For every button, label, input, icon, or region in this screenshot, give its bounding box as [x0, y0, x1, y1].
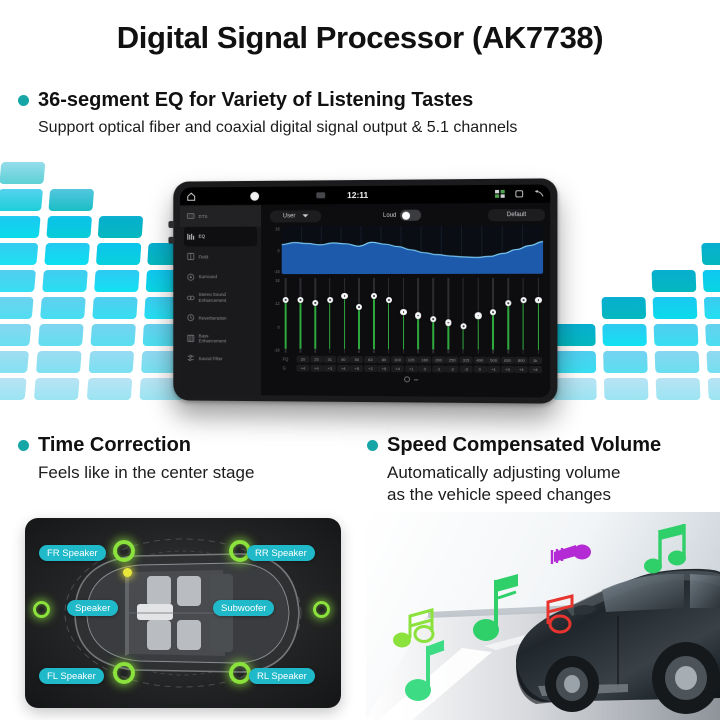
eq-slider[interactable]	[536, 278, 541, 354]
bg-eq-segment	[653, 297, 698, 319]
speed-volume-image-panel	[366, 512, 720, 720]
speaker-ring-rl	[229, 662, 251, 684]
slider-fill	[538, 298, 540, 350]
slider-thumb[interactable]	[445, 319, 451, 325]
sidebar-item-reverberation[interactable]: Reverberation	[180, 308, 261, 329]
bg-eq-segment	[701, 243, 720, 265]
chevron-down-icon	[302, 214, 308, 217]
effects-sidebar[interactable]: DTSEQFieldSurroundStereo Sound Enhanceme…	[180, 205, 261, 395]
eq-slider[interactable]	[298, 278, 302, 353]
frequency-cell[interactable]: 100	[391, 356, 404, 363]
gain-cell[interactable]: 0	[418, 365, 431, 372]
status-right-icons	[495, 190, 544, 198]
frequency-cell[interactable]: 200	[432, 356, 445, 363]
preset-select-label: User	[283, 213, 295, 219]
bg-eq-segment	[0, 162, 45, 184]
gain-cell[interactable]: +3	[501, 366, 514, 373]
sidebar-item-label: Field	[199, 254, 209, 259]
frequency-cell[interactable]: 80	[377, 356, 390, 363]
field-icon	[187, 253, 195, 261]
bg-eq-segment	[94, 270, 139, 292]
gain-cell[interactable]: +4	[297, 365, 310, 372]
bg-eq-segment	[48, 189, 94, 211]
eq-control-row: User Loud Default	[264, 207, 545, 224]
graph-y-axis: 180-18	[264, 226, 282, 274]
speaker-ring-right	[313, 601, 330, 618]
slider-fill	[300, 298, 302, 349]
axis-tick: -18	[274, 348, 280, 353]
slider-fill	[403, 310, 405, 349]
eq-icon	[187, 233, 195, 241]
frequency-cell[interactable]: 20	[297, 356, 310, 363]
gain-cell[interactable]: 0	[473, 366, 486, 373]
gain-cell[interactable]: -2	[446, 365, 459, 372]
feature-block-eq: 36-segment EQ for Variety of Listening T…	[18, 88, 517, 139]
back-arrow-icon[interactable]	[534, 190, 544, 198]
bg-eq-segment	[708, 378, 720, 400]
driver-position-marker	[123, 568, 132, 577]
eq-slider[interactable]	[491, 278, 496, 354]
graph-plot-area	[282, 225, 543, 274]
eq-slider[interactable]	[313, 278, 317, 353]
bg-eq-segment	[656, 378, 701, 400]
axis-tick: 12	[275, 301, 280, 306]
slider-fill	[314, 301, 316, 349]
slider-thumb[interactable]	[356, 304, 362, 310]
head-unit-screen: 12:11 DTSEQFieldSurroundStereo	[180, 184, 550, 397]
bg-eq-segment	[44, 243, 90, 265]
loudness-label: Loud	[383, 212, 396, 218]
speaker-ring-fr	[113, 540, 135, 562]
sidebar-item-eq[interactable]: EQ	[184, 226, 257, 247]
bg-eq-segment	[90, 324, 135, 346]
bg-eq-segment	[0, 216, 41, 238]
frequency-cell[interactable]: 63	[364, 356, 377, 363]
bg-eq-segment	[38, 324, 84, 346]
eq-slider[interactable]	[521, 278, 526, 354]
gain-cell[interactable]: +5	[377, 365, 390, 372]
slider-fill	[507, 301, 509, 349]
bg-eq-segment	[0, 189, 43, 211]
loudness-control[interactable]: Loud	[383, 210, 422, 221]
bg-eq-segment	[704, 297, 720, 319]
frequency-cell[interactable]: 500	[487, 357, 500, 364]
slider-thumb[interactable]	[371, 293, 377, 299]
gain-cell[interactable]: +1	[405, 365, 418, 372]
bg-eq-segment	[34, 378, 80, 400]
slider-fill	[418, 314, 420, 350]
slider-fill	[344, 294, 346, 349]
eq-value-table: FQ 2025314050638010012516020025031540050…	[282, 355, 543, 387]
speaker-ring-fl	[113, 662, 135, 684]
sidebar-item-label: Reverberation	[199, 315, 227, 320]
slider-thumb[interactable]	[283, 297, 289, 303]
frequency-cell[interactable]: 630	[501, 357, 514, 364]
bg-eq-column	[602, 297, 649, 400]
label-speaker: Speaker	[67, 600, 118, 616]
reverb-icon	[187, 314, 195, 322]
frequency-cell[interactable]: 400	[473, 357, 486, 364]
bg-eq-segment	[0, 378, 27, 400]
feature-subtext: Feels like in the center stage	[38, 462, 254, 484]
slider-thumb[interactable]	[490, 309, 496, 315]
slider-thumb[interactable]	[312, 300, 318, 306]
bg-eq-segment	[552, 351, 596, 373]
sidebar-item-sound-filter[interactable]: Sound Filter	[180, 348, 261, 369]
frequency-cell[interactable]: 25	[310, 356, 323, 363]
square-icon[interactable]	[514, 190, 524, 198]
bg-eq-segment	[96, 243, 141, 265]
slider-fill	[492, 310, 494, 349]
gain-cell[interactable]: +3	[323, 365, 336, 372]
eq-slider[interactable]	[506, 278, 511, 354]
frequency-row-label: FQ	[283, 357, 289, 362]
slider-thumb[interactable]	[430, 316, 436, 322]
slider-fill	[477, 314, 479, 350]
bg-eq-segment	[654, 324, 699, 346]
bg-eq-segment	[703, 270, 720, 292]
sidebar-item-field[interactable]: Field	[180, 247, 261, 268]
frequency-cell[interactable]: 315	[459, 356, 472, 363]
bg-eq-column	[87, 216, 143, 400]
sidebar-item-label: Sound Filter	[199, 356, 223, 361]
default-button[interactable]: Default	[488, 208, 545, 220]
bg-eq-segment	[0, 324, 31, 346]
slider-fill	[522, 298, 524, 350]
eq-slider[interactable]	[342, 278, 346, 353]
car-speaker-diagram-panel: FR Speaker RR Speaker Speaker Subwoofer …	[25, 518, 341, 708]
bg-eq-segment	[705, 324, 720, 346]
sidebar-item-label: Bass Enhancement	[199, 333, 227, 344]
sidebar-item-label: DTS	[199, 214, 208, 219]
sidebar-item-stereo-sound-enhancement[interactable]: Stereo Sound Enhancement	[180, 287, 261, 307]
sidebar-item-surround[interactable]: Surround	[180, 267, 261, 287]
bg-eq-column	[701, 243, 720, 400]
gain-cell[interactable]: +2	[364, 365, 377, 372]
bg-eq-segment	[98, 216, 143, 238]
speaker-ring-left	[33, 601, 50, 618]
bg-eq-segment	[551, 324, 595, 346]
feature-heading: Time Correction	[38, 433, 254, 457]
bg-eq-segment	[0, 297, 34, 319]
feature-block-time-correction: Time Correction Feels like in the center…	[18, 433, 254, 484]
bg-eq-segment	[40, 297, 86, 319]
feature-block-speed-volume: Speed Compensated Volume Automatically a…	[367, 433, 661, 506]
bg-eq-column	[652, 270, 701, 400]
bullet-dot-icon	[18, 440, 29, 451]
eq-slider-bank[interactable]: 18120-18	[282, 278, 543, 354]
bg-eq-segment	[36, 351, 82, 373]
slider-fill	[388, 298, 390, 349]
bg-eq-segment	[603, 351, 648, 373]
car-on-road-illustration	[366, 512, 720, 720]
bullet-dot-icon	[18, 95, 29, 106]
stereo-icon	[187, 294, 195, 302]
record-circle-icon[interactable]	[250, 191, 259, 200]
bullet-dot-icon	[367, 440, 378, 451]
sidebar-item-label: Surround	[199, 275, 217, 280]
bg-eq-segment	[602, 324, 647, 346]
slider-thumb[interactable]	[327, 297, 333, 303]
axis-tick: 18	[275, 226, 280, 231]
bg-eq-segment	[92, 297, 137, 319]
toggle-knob	[402, 211, 410, 219]
frequency-cell[interactable]: 1k	[529, 357, 542, 364]
eq-slider[interactable]	[401, 278, 406, 353]
eq-slider[interactable]	[284, 278, 288, 353]
slider-thumb[interactable]	[520, 297, 526, 303]
bg-eq-segment	[46, 216, 92, 238]
frequency-cell[interactable]: 40	[337, 356, 350, 363]
sidebar-item-dts[interactable]: DTS	[180, 206, 261, 227]
response-curve-svg	[282, 225, 543, 274]
gain-cell[interactable]: +5	[350, 365, 363, 372]
eq-slider[interactable]	[461, 278, 466, 354]
gain-cell[interactable]: +4	[515, 366, 528, 373]
slider-thumb[interactable]	[535, 297, 541, 303]
frequency-cell[interactable]: 160	[418, 356, 431, 363]
bg-eq-segment	[706, 351, 720, 373]
gain-cell[interactable]: -1	[432, 365, 445, 372]
sidebar-item-bass-enhancement[interactable]: Bass Enhancement	[180, 328, 261, 349]
eq-slider[interactable]	[476, 278, 481, 354]
slider-fill	[329, 298, 331, 349]
eq-main-panel: User Loud Default 180-18	[261, 203, 550, 398]
bg-eq-segment	[0, 243, 38, 265]
bg-eq-segment	[652, 270, 697, 292]
label-subwoofer: Subwoofer	[213, 600, 274, 616]
feature-subtext: Support optical fiber and coaxial digita…	[38, 118, 517, 139]
gain-cell[interactable]: +4	[310, 365, 323, 372]
slider-fill	[373, 294, 375, 349]
gain-row-label: G	[283, 366, 286, 371]
bg-eq-segment	[602, 297, 647, 319]
bg-eq-segment	[0, 351, 29, 373]
eq-slider[interactable]	[386, 278, 391, 353]
slider-thumb[interactable]	[386, 297, 392, 303]
loudness-toggle[interactable]	[400, 210, 421, 221]
bg-eq-segment	[604, 378, 649, 400]
eq-footer	[282, 372, 543, 386]
label-fr-speaker: FR Speaker	[39, 545, 106, 561]
bg-eq-column	[34, 189, 94, 400]
slider-thumb[interactable]	[400, 309, 406, 315]
slider-thumb[interactable]	[415, 312, 421, 318]
slider-thumb[interactable]	[505, 300, 511, 306]
frequency-cell[interactable]: 50	[350, 356, 363, 363]
frequency-cell[interactable]: 31	[323, 356, 336, 363]
status-time: 12:11	[347, 190, 368, 200]
eq-slider[interactable]	[328, 278, 332, 353]
head-unit-device: 12:11 DTSEQFieldSurroundStereo	[173, 178, 557, 403]
reset-icon[interactable]	[404, 376, 410, 382]
slider-y-axis: 18120-18	[264, 278, 282, 353]
camera-icon[interactable]	[316, 192, 325, 198]
bg-eq-segment	[87, 378, 132, 400]
gain-cell[interactable]: +4	[337, 365, 350, 372]
dts-icon	[187, 212, 195, 220]
axis-tick: 0	[277, 248, 279, 253]
gain-cell[interactable]: +4	[529, 366, 542, 373]
apps-icon[interactable]	[495, 190, 505, 198]
eq-response-graph: 180-18	[282, 225, 543, 274]
gain-cell[interactable]: +4	[391, 365, 404, 372]
surround-icon	[187, 273, 195, 281]
gain-row: G +4+4+3+4+5+2+5+4+10-1-2-30+1+3+4+4	[282, 364, 543, 375]
preset-select[interactable]: User	[270, 210, 321, 222]
gain-cell[interactable]: -3	[459, 366, 472, 373]
bg-eq-column	[551, 324, 596, 400]
slider-fill	[285, 298, 287, 349]
bass-icon	[187, 334, 195, 342]
slider-fill	[358, 305, 360, 349]
bg-eq-segment	[89, 351, 134, 373]
slider-thumb[interactable]	[341, 293, 347, 299]
filter-icon	[187, 355, 195, 363]
bg-eq-segment	[552, 378, 596, 400]
gain-cell[interactable]: +1	[487, 366, 500, 373]
bg-eq-segment	[655, 351, 700, 373]
bg-eq-segment	[42, 270, 88, 292]
eq-slider[interactable]	[446, 278, 451, 354]
sidebar-item-label: EQ	[199, 234, 205, 239]
eq-slider[interactable]	[431, 278, 436, 353]
eq-slider[interactable]	[357, 278, 361, 353]
label-fl-speaker: FL Speaker	[39, 668, 104, 684]
label-rr-speaker: RR Speaker	[247, 545, 315, 561]
axis-tick: 0	[277, 324, 279, 329]
feature-heading: 36-segment EQ for Variety of Listening T…	[38, 88, 517, 112]
bg-eq-segment	[0, 270, 36, 292]
sidebar-item-label: Stereo Sound Enhancement	[199, 292, 227, 302]
frequency-cell[interactable]: 800	[515, 357, 528, 364]
dash-icon	[414, 379, 418, 380]
eq-slider[interactable]	[416, 278, 421, 353]
slider-thumb[interactable]	[475, 312, 481, 318]
home-icon[interactable]	[187, 192, 196, 201]
page-title: Digital Signal Processor (AK7738)	[0, 20, 720, 56]
axis-tick: -18	[274, 269, 280, 274]
frequency-cell[interactable]: 125	[405, 356, 418, 363]
eq-slider[interactable]	[372, 278, 376, 353]
axis-tick: 18	[275, 278, 280, 283]
slider-thumb[interactable]	[460, 323, 466, 329]
slider-thumb[interactable]	[297, 297, 303, 303]
frequency-cell[interactable]: 250	[446, 356, 459, 363]
label-rl-speaker: RL Speaker	[249, 668, 315, 684]
feature-heading: Speed Compensated Volume	[387, 433, 661, 457]
feature-subtext: Automatically adjusting volume as the ve…	[387, 462, 661, 506]
